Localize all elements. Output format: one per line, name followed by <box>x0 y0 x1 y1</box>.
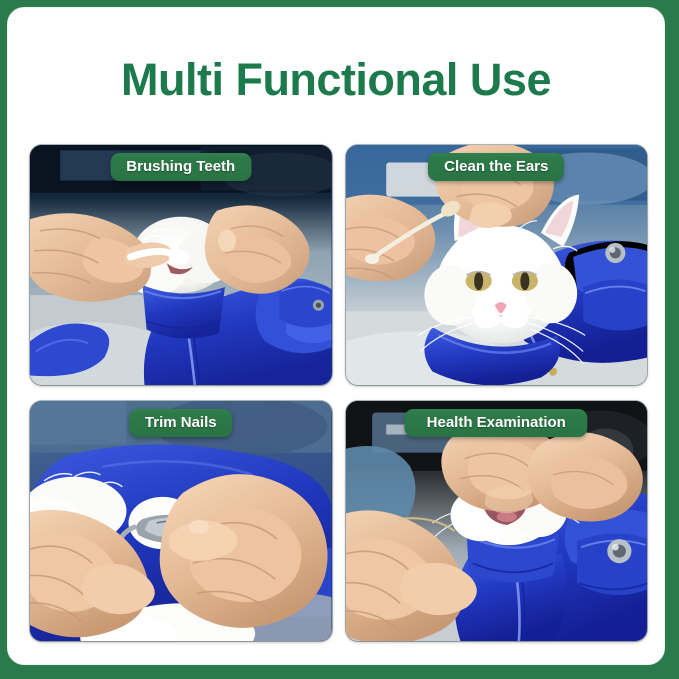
feature-cell-health-examination[interactable]: Health Examination <box>346 401 648 641</box>
photo-health-examination <box>346 401 648 641</box>
feature-cell-trim-nails[interactable]: Trim Nails <box>30 401 332 641</box>
badge-clean-the-ears: Clean the Ears <box>428 153 564 181</box>
feature-grid: Brushing Teeth <box>30 145 647 641</box>
badge-trim-nails: Trim Nails <box>129 409 233 437</box>
poster-card: Multi Functional Use <box>8 8 664 664</box>
badge-health-examination: Health Examination <box>405 409 588 437</box>
poster-root: Multi Functional Use <box>0 0 679 679</box>
feature-cell-brushing-teeth[interactable]: Brushing Teeth <box>30 145 332 385</box>
badge-brushing-teeth: Brushing Teeth <box>110 153 251 181</box>
photo-trim-nails <box>30 401 332 641</box>
page-title: Multi Functional Use <box>8 54 664 106</box>
photo-clean-the-ears <box>346 145 648 385</box>
feature-cell-clean-the-ears[interactable]: Clean the Ears <box>346 145 648 385</box>
photo-brushing-teeth <box>30 145 332 385</box>
